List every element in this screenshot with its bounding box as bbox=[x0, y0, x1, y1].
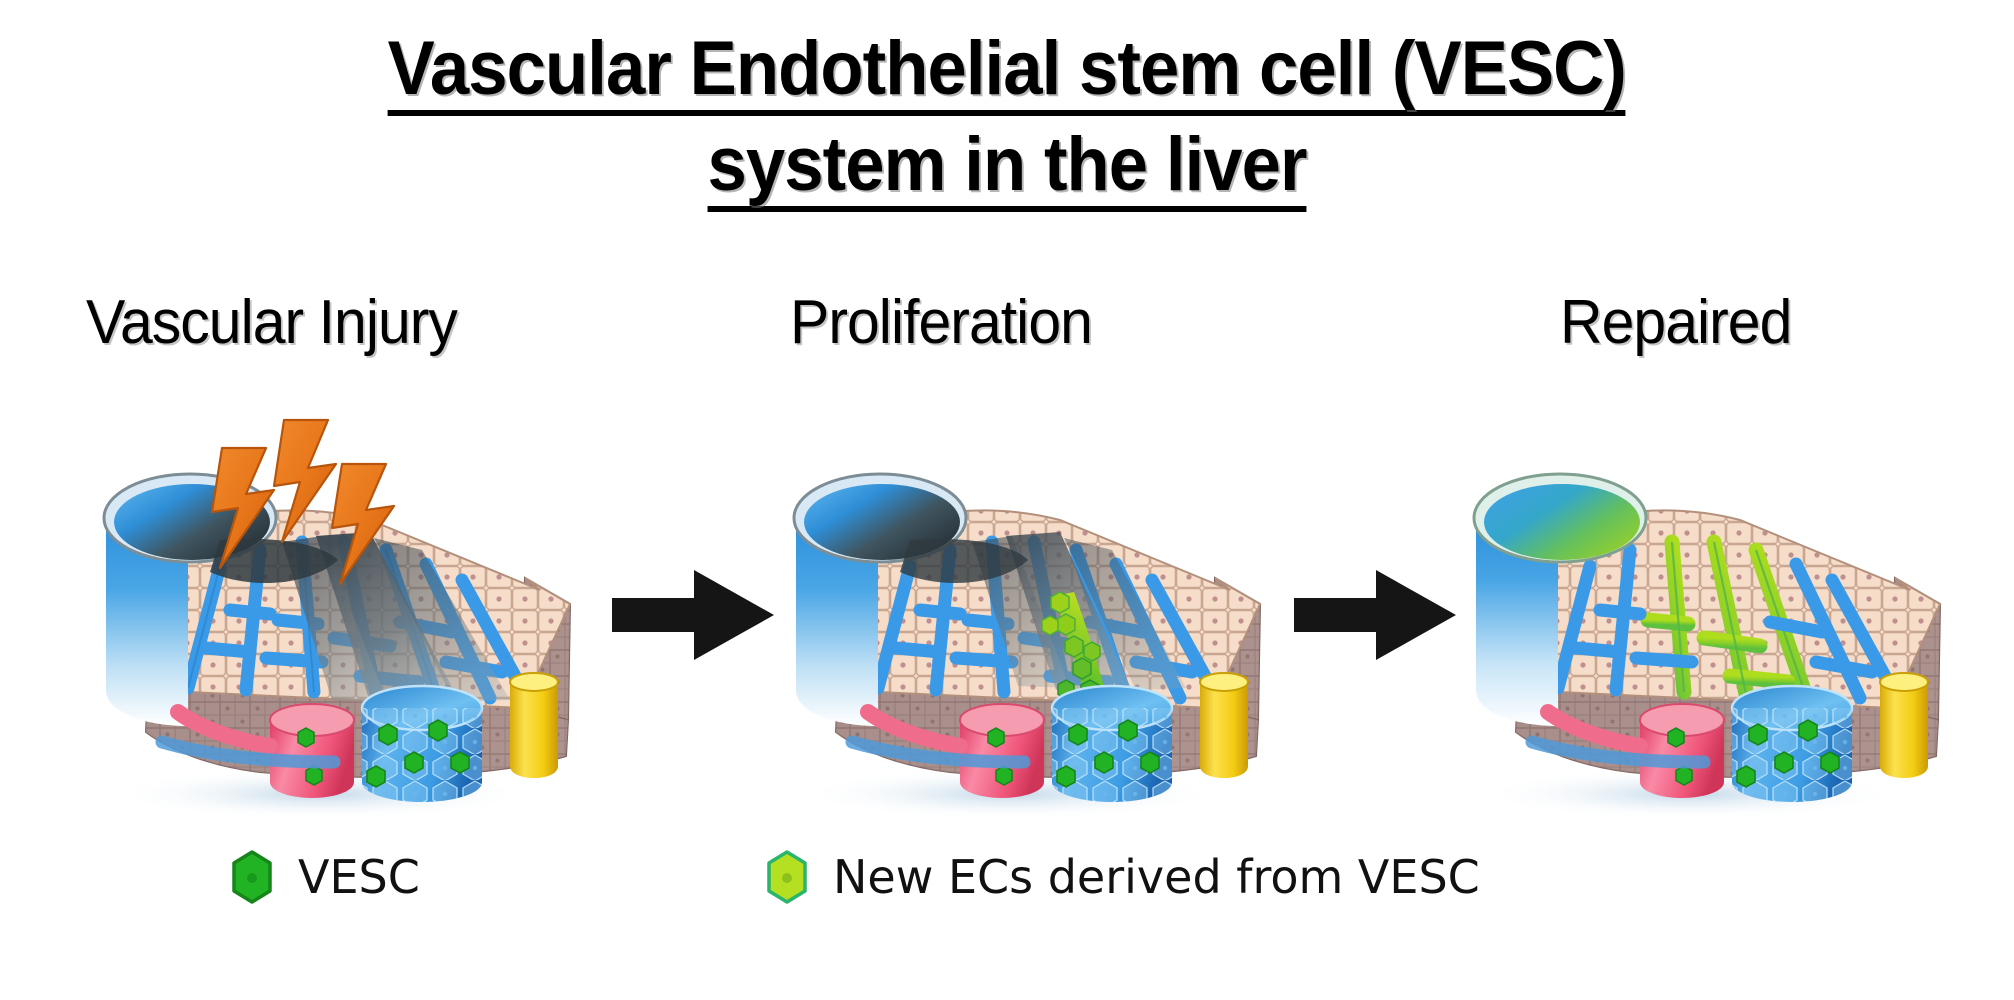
panel-label-repaired: Repaired bbox=[1560, 290, 1791, 356]
figure-canvas: Vascular Endothelial stem cell (VESC) sy… bbox=[0, 0, 2014, 1000]
figure-legend: VESC New ECs derived from VESC bbox=[0, 840, 2014, 950]
bile-duct-rim bbox=[1880, 673, 1928, 691]
title-line-1: Vascular Endothelial stem cell (VESC) bbox=[388, 30, 1626, 116]
bile-duct-rim bbox=[510, 673, 558, 691]
right-arrow-icon bbox=[1294, 570, 1456, 660]
diagram-panel-proliferation bbox=[760, 390, 1300, 820]
chartreuse-hexagon-cell-icon bbox=[765, 850, 809, 904]
panel-label-vascular-injury: Vascular Injury bbox=[86, 290, 457, 356]
legend-label-new-ecs: New ECs derived from VESC bbox=[833, 852, 1480, 902]
title-line-2: system in the liver bbox=[707, 126, 1306, 212]
legend-label-vesc: VESC bbox=[298, 852, 420, 902]
bile-duct-body bbox=[1880, 682, 1928, 778]
diagram-panel-vascular-injury bbox=[70, 390, 610, 820]
arrow-injury-to-proliferation bbox=[608, 560, 778, 670]
legend-item-vesc: VESC bbox=[230, 850, 420, 904]
legend-item-new-ecs: New ECs derived from VESC bbox=[765, 850, 1480, 904]
diagram-panel-repaired bbox=[1440, 390, 1980, 820]
central-vein-lumen-repaired bbox=[1484, 484, 1640, 560]
bile-duct-body bbox=[510, 682, 558, 778]
right-arrow-icon bbox=[612, 570, 774, 660]
figure-title: Vascular Endothelial stem cell (VESC) sy… bbox=[0, 30, 2014, 212]
bile-duct-rim bbox=[1200, 673, 1248, 691]
panel-label-proliferation: Proliferation bbox=[790, 290, 1092, 356]
arrow-proliferation-to-repaired bbox=[1290, 560, 1460, 670]
green-hexagon-cell-icon bbox=[230, 850, 274, 904]
bile-duct-body bbox=[1200, 682, 1248, 778]
